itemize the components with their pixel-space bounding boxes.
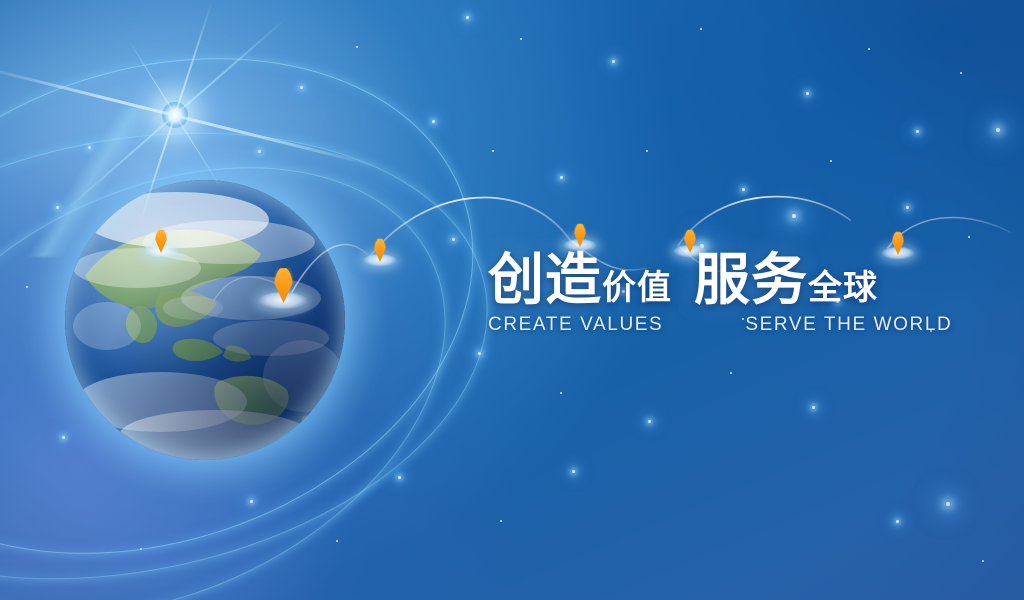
banner-stage: 创造价值服务全球 CREATE VALUESSERVE THE WORLD [0,0,1024,600]
vignette-overlay [0,0,1024,600]
